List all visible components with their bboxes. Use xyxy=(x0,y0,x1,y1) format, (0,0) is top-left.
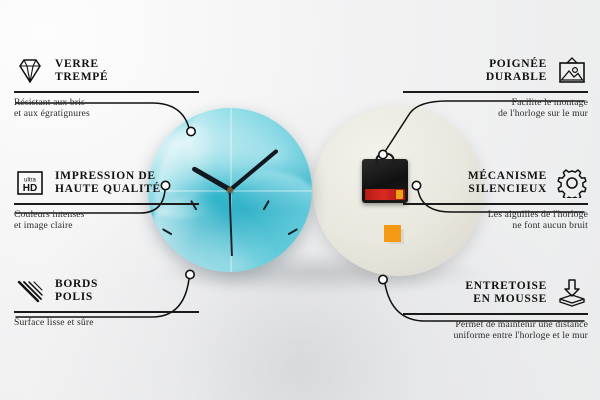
divider xyxy=(403,313,588,315)
feature-description: Facilite le montage de l'horloge sur le … xyxy=(403,97,588,120)
feature-title: VERRE TREMPÉ xyxy=(55,58,108,85)
divider xyxy=(14,91,199,93)
feature-heading: MÉCANISME SILENCIEUX xyxy=(403,168,588,198)
svg-text:HD: HD xyxy=(23,183,37,194)
feature-description: Résistant aux bris et aux égratignures xyxy=(14,97,199,120)
gear-icon xyxy=(556,168,588,198)
divider xyxy=(14,203,199,205)
feature-title: BORDS POLIS xyxy=(55,278,98,305)
feature-description: Couleurs intenses et image claire xyxy=(14,209,199,232)
feature-impression-haute-qualite: ultra HD IMPRESSION DE HAUTE QUALITÉ Cou… xyxy=(14,168,199,232)
press-down-foam-icon xyxy=(556,278,588,308)
infographic-canvas: VERRE TREMPÉ Résistant aux bris et aux é… xyxy=(0,0,600,400)
connector-node-verre-trempe xyxy=(187,127,195,135)
polished-edges-icon xyxy=(14,276,46,306)
feature-title: POIGNÉE DURABLE xyxy=(486,58,547,85)
divider xyxy=(403,91,588,93)
ultra-hd-icon: ultra HD xyxy=(14,168,46,198)
feature-verre-trempe: VERRE TREMPÉ Résistant aux bris et aux é… xyxy=(14,56,199,120)
feature-heading: ENTRETOISE EN MOUSSE xyxy=(403,278,588,308)
feature-mecanisme-silencieux: MÉCANISME SILENCIEUX Les aiguilles de l'… xyxy=(403,168,588,232)
feature-title: IMPRESSION DE HAUTE QUALITÉ xyxy=(55,170,161,197)
feature-bords-polis: BORDS POLIS Surface lisse et sûre xyxy=(14,276,199,328)
feature-heading: ultra HD IMPRESSION DE HAUTE QUALITÉ xyxy=(14,168,199,198)
feature-title: ENTRETOISE EN MOUSSE xyxy=(465,280,547,307)
divider xyxy=(14,311,199,313)
feature-entretoise-en-mousse: ENTRETOISE EN MOUSSE Permet de maintenir… xyxy=(403,278,588,342)
feature-title: MÉCANISME SILENCIEUX xyxy=(468,170,547,197)
feature-heading: VERRE TREMPÉ xyxy=(14,56,199,86)
feature-poignee-durable: POIGNÉE DURABLE Facilite le montage de l… xyxy=(403,56,588,120)
connector-node-poignee xyxy=(379,150,387,158)
feature-heading: BORDS POLIS xyxy=(14,276,199,306)
connector-node-entretoise xyxy=(379,275,387,283)
feature-heading: POIGNÉE DURABLE xyxy=(403,56,588,86)
feature-description: Les aiguilles de l'horloge ne font aucun… xyxy=(403,209,588,232)
picture-frame-hook-icon xyxy=(556,56,588,86)
feature-description: Surface lisse et sûre xyxy=(14,317,199,329)
feature-description: Permet de maintenir une distance uniform… xyxy=(403,319,588,342)
divider xyxy=(403,203,588,205)
diamond-icon xyxy=(14,56,46,86)
